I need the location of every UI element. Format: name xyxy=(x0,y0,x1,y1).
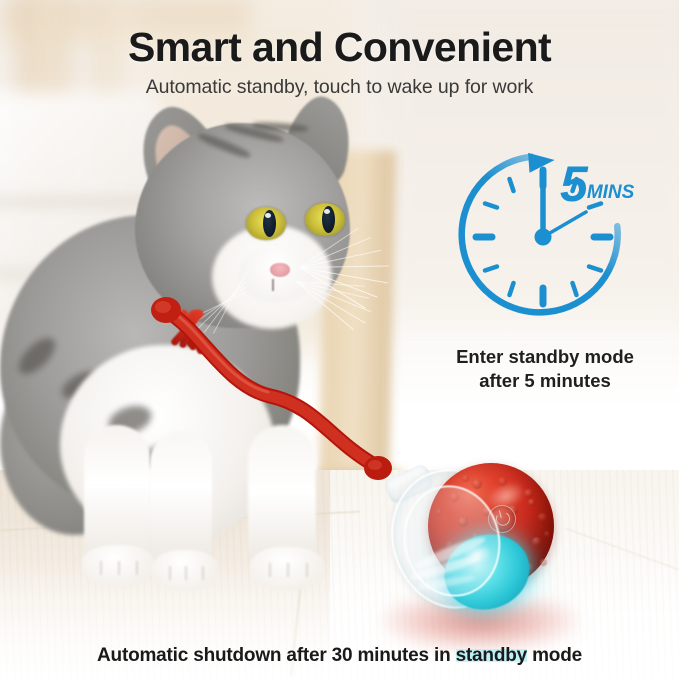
cat-toe-line xyxy=(202,566,204,580)
ball-dimple xyxy=(540,559,547,566)
ball-dimple xyxy=(524,489,533,498)
cat-toe-line xyxy=(185,566,187,580)
clock-duration-value: 5 xyxy=(560,162,587,207)
cat-toe-line xyxy=(169,566,171,580)
cat-toe-line xyxy=(136,561,138,575)
ball-dimple xyxy=(532,537,541,546)
bottom-caption-highlight: standby xyxy=(456,645,527,666)
cat-ball-toy xyxy=(392,455,562,630)
ball-dimple xyxy=(472,479,482,489)
cat-eye-glint xyxy=(324,209,330,214)
bottom-caption: Automatic shutdown after 30 minutes in s… xyxy=(0,645,679,667)
ball-dimple xyxy=(544,531,550,537)
clock-caption-line-2: after 5 minutes xyxy=(400,369,679,393)
clock-caption: Enter standby mode after 5 minutes xyxy=(400,345,679,394)
cat-toe-line xyxy=(269,563,271,577)
ball-dimple xyxy=(498,477,507,486)
cat-toe-line xyxy=(100,561,102,575)
bottom-caption-before: Automatic shutdown after 30 minutes in xyxy=(97,645,456,666)
cat-toe-line xyxy=(287,563,289,577)
ball-dimple xyxy=(462,475,469,482)
cat-eye-glint xyxy=(265,213,271,218)
clock-duration-unit: MINS xyxy=(587,183,635,207)
cat-toe-line xyxy=(306,563,308,577)
clock-caption-line-1: Enter standby mode xyxy=(400,345,679,369)
standby-timer-clock-icon: 5 MINS xyxy=(448,142,638,332)
page-subtitle: Automatic standby, touch to wake up for … xyxy=(0,76,679,99)
bottom-caption-after: mode xyxy=(527,645,582,666)
product-marketing-poster: 5 MINS Smart and Convenient Automatic st… xyxy=(0,0,679,679)
ball-dimple xyxy=(538,513,547,522)
page-title: Smart and Convenient xyxy=(0,24,679,71)
ball-dimple xyxy=(528,499,535,506)
clock-center-hub xyxy=(535,229,552,246)
clock-duration-label: 5 MINS xyxy=(560,162,634,207)
cat-nose xyxy=(270,263,290,277)
cat-toe-line xyxy=(118,561,120,575)
